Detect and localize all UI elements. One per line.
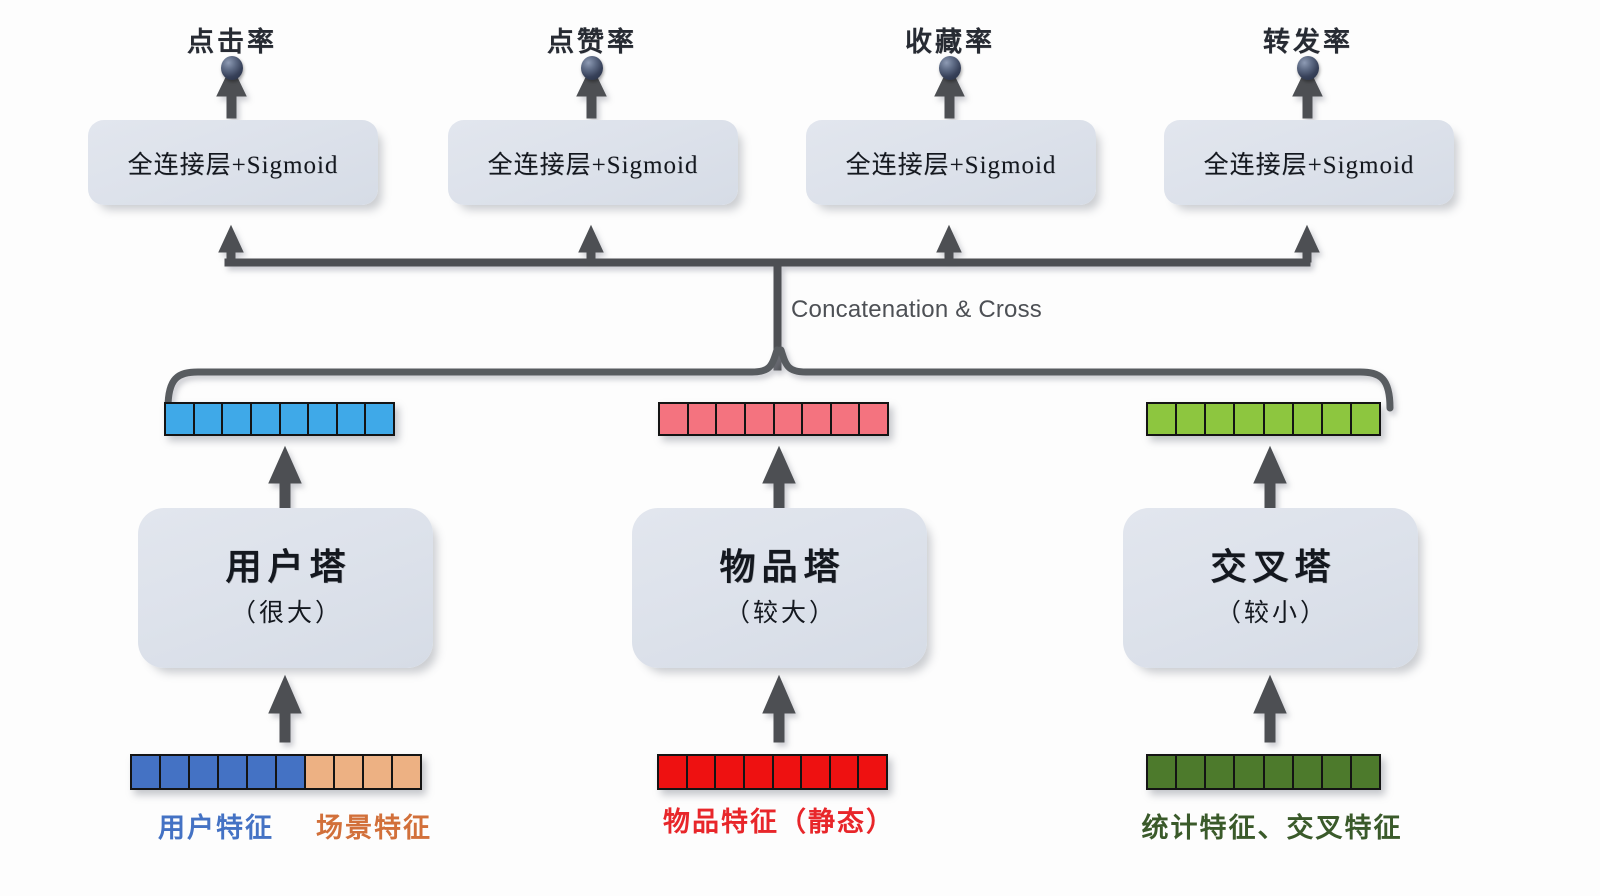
vector-cell [164, 402, 195, 436]
item-tower-box[interactable]: 物品塔 （较大） [632, 508, 927, 668]
vector-cell [1146, 402, 1177, 436]
vector-cell [1204, 754, 1235, 790]
vector-cell [1263, 402, 1294, 436]
vector-cell [362, 754, 393, 790]
vector-cell [801, 402, 832, 436]
vector-cell [193, 402, 224, 436]
fc-sigmoid-box-share[interactable]: 全连接层+Sigmoid [1164, 120, 1454, 205]
output-label-favorite: 收藏率 [905, 20, 995, 59]
vector-cell [221, 402, 252, 436]
vector-cell [714, 754, 745, 790]
cross-tower-box[interactable]: 交叉塔 （较小） [1123, 508, 1418, 668]
vector-cell [336, 402, 367, 436]
user-embedding-vector [164, 402, 409, 436]
fc-sigmoid-box-ctr[interactable]: 全连接层+Sigmoid [88, 120, 378, 205]
output-node-ctr [221, 56, 243, 80]
output-node-share [1297, 56, 1319, 80]
vector-cell [1321, 754, 1352, 790]
vector-cell [1321, 402, 1352, 436]
user-tower-title: 用户塔 [219, 547, 351, 588]
output-node-favorite [939, 56, 961, 80]
vector-cell [1233, 754, 1264, 790]
vector-cell [657, 754, 688, 790]
vector-cell [275, 754, 306, 790]
vector-cell [1204, 402, 1235, 436]
vector-cell [1146, 754, 1177, 790]
caption-item-feature: 物品特征（静态） [663, 800, 895, 839]
caption-scene-feature: 场景特征 [316, 806, 432, 845]
diagram-canvas: 点击率 点赞率 收藏率 转发率 全连接层+Sigmoid 全连接层+Sigmoi… [0, 0, 1600, 896]
vector-cell [1350, 754, 1381, 790]
vector-cell [1292, 402, 1323, 436]
vector-cell [246, 754, 277, 790]
cross-input-feature-vector [1146, 754, 1395, 790]
user-input-feature-vector [130, 754, 440, 790]
output-node-like [581, 56, 603, 80]
fc-sigmoid-label: 全连接层+Sigmoid [488, 145, 699, 181]
arrow-tower-to-embedding [269, 447, 1286, 510]
cross-tower-title: 交叉塔 [1204, 547, 1336, 588]
fc-sigmoid-box-like[interactable]: 全连接层+Sigmoid [448, 120, 738, 205]
item-input-feature-vector [657, 754, 902, 790]
fc-sigmoid-label: 全连接层+Sigmoid [1204, 145, 1415, 181]
vector-cell [250, 402, 281, 436]
fc-sigmoid-label: 全连接层+Sigmoid [846, 145, 1057, 181]
user-tower-box[interactable]: 用户塔 （很大） [138, 508, 433, 668]
vector-cell [858, 402, 889, 436]
vector-cell [743, 754, 774, 790]
vector-cell [1263, 754, 1294, 790]
vector-cell [744, 402, 775, 436]
vector-cell [1350, 402, 1381, 436]
item-tower-title: 物品塔 [713, 547, 845, 588]
vector-cell [773, 402, 804, 436]
concatenation-cross-label: Concatenation & Cross [791, 296, 1042, 324]
vector-cell [1175, 754, 1206, 790]
user-tower-subtitle: （很大） [228, 593, 343, 629]
concat-distribution-bus [219, 226, 1319, 266]
vector-cell [687, 402, 718, 436]
vector-cell [800, 754, 831, 790]
arrow-input-to-tower [269, 676, 1286, 742]
vector-cell [772, 754, 803, 790]
vector-cell [829, 754, 860, 790]
vector-cell [279, 402, 310, 436]
item-embedding-vector [658, 402, 903, 436]
fc-sigmoid-box-favorite[interactable]: 全连接层+Sigmoid [806, 120, 1096, 205]
vector-cell [307, 402, 338, 436]
output-label-ctr: 点击率 [187, 20, 277, 59]
cross-tower-subtitle: （较小） [1213, 593, 1328, 629]
concat-trunk [774, 262, 781, 370]
vector-cell [217, 754, 248, 790]
vector-cell [1175, 402, 1206, 436]
vector-cell [391, 754, 422, 790]
caption-user-feature: 用户特征 [158, 806, 274, 845]
vector-cell [830, 402, 861, 436]
vector-cell [658, 402, 689, 436]
vector-cell [364, 402, 395, 436]
vector-cell [188, 754, 219, 790]
vector-cell [1233, 402, 1264, 436]
vector-cell [130, 754, 161, 790]
tower-gather-brace [168, 350, 1390, 408]
vector-cell [715, 402, 746, 436]
item-tower-subtitle: （较大） [722, 593, 837, 629]
vector-cell [333, 754, 364, 790]
vector-cell [1292, 754, 1323, 790]
output-label-like: 点赞率 [547, 20, 637, 59]
vector-cell [686, 754, 717, 790]
arrow-fc-to-output [217, 66, 1322, 118]
vector-cell [857, 754, 888, 790]
vector-cell [159, 754, 190, 790]
fc-sigmoid-label: 全连接层+Sigmoid [128, 145, 339, 181]
vector-cell [304, 754, 335, 790]
caption-cross-feature: 统计特征、交叉特征 [1142, 806, 1403, 845]
cross-embedding-vector [1146, 402, 1395, 436]
output-label-share: 转发率 [1263, 20, 1353, 59]
